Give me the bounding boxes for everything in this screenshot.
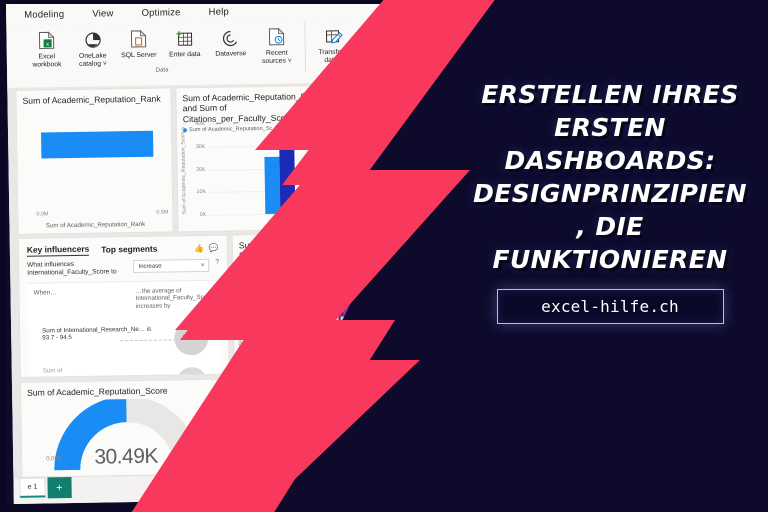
text-box-button[interactable]: A Text box bbox=[460, 22, 476, 54]
question-text: What influences International_Faculty_Sc… bbox=[27, 260, 128, 278]
help-icon[interactable]: ? bbox=[215, 259, 219, 266]
ribbon-group-queries-label: Queries bbox=[346, 65, 367, 71]
tab-optimize[interactable]: Optimize bbox=[141, 7, 180, 19]
transform-data-button[interactable]: Transform data ˅ bbox=[311, 25, 356, 65]
promo-line-4: DESIGNPRINZIPIEN bbox=[455, 177, 765, 210]
add-page-button[interactable]: + bbox=[47, 477, 71, 498]
x-tick-0: 0.0M bbox=[36, 211, 48, 217]
legend-swatch bbox=[239, 264, 243, 268]
dataverse-label: Dataverse bbox=[215, 50, 246, 58]
new-visual-label: New visual bbox=[420, 47, 453, 55]
bar-orange[interactable] bbox=[246, 435, 469, 443]
tile-employment-area-chart[interactable]: Sum of Employment_Outcomes_S… Faculty_St… bbox=[232, 231, 476, 375]
direction-dropdown[interactable]: Increase ˅ bbox=[133, 259, 209, 273]
promo-line-1: ERSTELLEN IHRES bbox=[455, 78, 765, 111]
y-tick: 10K bbox=[180, 189, 206, 195]
tab-view[interactable]: View bbox=[92, 8, 113, 19]
gauge[interactable]: 30.49K 0.00K 60.98K bbox=[21, 398, 230, 477]
refresh-label: Refresh bbox=[368, 48, 392, 56]
promo-headline: ERSTELLEN IHRES ERSTEN DASHBOARDS: DESIG… bbox=[455, 78, 765, 276]
tab-modeling[interactable]: Modeling bbox=[24, 9, 64, 21]
transform-icon bbox=[324, 25, 343, 47]
tile-reputation-bars[interactable]: Sum of Academic_Reputation_R… Academic_R… bbox=[234, 375, 476, 475]
influencer-row2-text: Sum of bbox=[43, 367, 63, 374]
refresh-button[interactable]: Refresh bbox=[357, 24, 401, 56]
y-tick: 0K bbox=[180, 212, 206, 218]
y-tick: 20K bbox=[180, 166, 206, 172]
x-axis-label: Sum of Academic_Reputation_Rank bbox=[18, 220, 172, 229]
screenshot-root: Modeling View Optimize Help x Excel work… bbox=[0, 0, 768, 512]
url-badge: excel-hilfe.ch bbox=[497, 289, 724, 324]
gauge-min: 0.00K bbox=[46, 456, 62, 462]
excel-icon: x bbox=[38, 29, 54, 51]
x-tick-1: 0.5M bbox=[156, 209, 168, 215]
recent-sources-label: Recent sources ˅ bbox=[255, 49, 299, 65]
excel-workbook-button[interactable]: x Excel workbook bbox=[24, 29, 69, 69]
gauge-max: 60.98K bbox=[197, 454, 216, 460]
legend-label: Sum of Empl… bbox=[245, 262, 283, 269]
sql-server-button[interactable]: SQL Server bbox=[116, 28, 160, 60]
key-influencers-question-row: What influences International_Faculty_Sc… bbox=[19, 256, 227, 283]
promo-line-3: DASHBOARDS: bbox=[455, 144, 765, 177]
onelake-catalog-label: OneLake catalog ˅ bbox=[71, 52, 115, 68]
stacked-area-series[interactable] bbox=[263, 278, 476, 357]
legend-swatch bbox=[332, 417, 336, 421]
y-tick: 40K bbox=[179, 121, 205, 127]
legend-label: Sum of Facult… bbox=[297, 262, 337, 269]
tile-score-and-citations[interactable]: Sum of Academic_Reputation_Score and Sum… bbox=[175, 85, 347, 233]
tile-gauge-academic-reputation[interactable]: Sum of Academic_Reputation_Score 30.49K … bbox=[20, 379, 231, 478]
plot-area: 100% 50% 0% bbox=[263, 278, 476, 357]
power-bi-window: Modeling View Optimize Help x Excel work… bbox=[6, 4, 476, 504]
report-canvas[interactable]: Sum of Academic_Reputation_Rank 0.0M 0.5… bbox=[7, 81, 476, 478]
influencer-bubble[interactable]: 50.15 bbox=[174, 321, 209, 356]
tab-key-influencers[interactable]: Key influencers bbox=[27, 244, 90, 257]
legend-item bbox=[332, 417, 336, 421]
tile-academic-reputation-rank[interactable]: Sum of Academic_Reputation_Rank 0.0M 0.5… bbox=[15, 87, 173, 234]
tile-key-influencers[interactable]: Key influencers Top segments 👍 💬 What in… bbox=[18, 235, 230, 378]
legend-item: Sum of Facult… bbox=[291, 262, 337, 269]
ribbon-body: x Excel workbook OneLake catalog ˅ bbox=[6, 19, 476, 89]
plot-area: 40K 30K 20K 10K 0K bbox=[209, 122, 340, 215]
ribbon-group-data-label: Data bbox=[156, 68, 169, 74]
promo-overlay: ERSTELLEN IHRES ERSTEN DASHBOARDS: DESIG… bbox=[455, 78, 765, 324]
ribbon-group-queries: Transform data ˅ Refresh Queries bbox=[304, 20, 408, 72]
sql-server-icon bbox=[130, 28, 146, 50]
dataverse-icon bbox=[221, 26, 239, 48]
y-axis-title: Sum of Employment_Ou… bbox=[235, 275, 245, 355]
bar-series[interactable] bbox=[246, 424, 474, 450]
legend-swatch bbox=[345, 262, 349, 266]
ribbon-group-insert-label: Insert bbox=[475, 55, 476, 61]
tile-title: Sum of Academic_Reputation_Rank bbox=[16, 88, 170, 108]
transform-data-label: Transform data ˅ bbox=[312, 49, 356, 65]
legend-swatch bbox=[291, 263, 295, 267]
excel-workbook-label: Excel workbook bbox=[25, 53, 69, 69]
comment-icon[interactable]: 💬 bbox=[209, 243, 219, 252]
svg-text:x: x bbox=[46, 42, 49, 48]
legend-swatch bbox=[242, 419, 246, 423]
tile-title: Sum of Employment_Outcomes_S… Faculty_St… bbox=[233, 232, 476, 264]
refresh-icon bbox=[371, 24, 387, 46]
enter-data-button[interactable]: Enter data bbox=[162, 27, 206, 59]
text-box-label: Text box bbox=[470, 46, 476, 54]
tile-title: Sum of Academic_Reputation_R… Academic_R… bbox=[235, 376, 476, 418]
recent-icon bbox=[268, 26, 284, 48]
x-axis-label: Faculty_Stu… bbox=[235, 362, 476, 372]
table-plus-icon bbox=[175, 27, 193, 49]
direction-value: Increase bbox=[138, 263, 161, 269]
ribbon-group-insert: New visual A Text box More visuals ˅ bbox=[407, 17, 476, 62]
tab-help[interactable]: Help bbox=[209, 6, 230, 17]
bar-dark-blue[interactable] bbox=[246, 427, 292, 432]
key-influencers-body[interactable]: When… …the average of International_Facu… bbox=[27, 279, 220, 377]
dataverse-button[interactable]: Dataverse bbox=[208, 26, 252, 58]
sql-server-label: SQL Server bbox=[121, 52, 156, 60]
y-tick: 100% bbox=[353, 118, 377, 124]
ribbon-group-data: x Excel workbook OneLake catalog ˅ bbox=[18, 21, 305, 76]
y-tick: 50% bbox=[354, 165, 378, 171]
legend-item bbox=[345, 262, 349, 266]
promo-line-2: ERSTEN bbox=[455, 111, 765, 144]
recent-sources-button[interactable]: Recent sources ˅ bbox=[254, 25, 299, 65]
promo-line-6: FUNKTIONIEREN bbox=[455, 243, 765, 276]
bar-series[interactable] bbox=[264, 147, 295, 213]
enter-data-label: Enter data bbox=[169, 51, 200, 59]
chevron-down-icon: ˅ bbox=[201, 262, 205, 268]
bar-academic-reputation-score[interactable] bbox=[264, 157, 280, 214]
bar-mark[interactable] bbox=[41, 131, 153, 159]
y-tick: 0% bbox=[354, 211, 378, 217]
textbox-icon: A bbox=[473, 22, 476, 44]
onelake-icon bbox=[84, 29, 101, 51]
legend-item: Sum of Academic_Reputatio… bbox=[242, 416, 324, 423]
influencer-bubble-2[interactable] bbox=[177, 367, 207, 378]
new-visual-button[interactable]: New visual bbox=[414, 23, 458, 55]
onelake-catalog-button[interactable]: OneLake catalog ˅ bbox=[70, 28, 115, 68]
new-visual-icon bbox=[427, 23, 445, 45]
bar-citations-per-faculty-score[interactable] bbox=[279, 147, 295, 213]
promo-line-5: , DIE bbox=[455, 210, 765, 243]
tab-top-segments[interactable]: Top segments bbox=[101, 244, 157, 255]
legend-item: Sum of Empl… bbox=[239, 262, 283, 269]
y-tick: 30K bbox=[179, 144, 205, 150]
average-label: …the average of International_Faculty_Sc… bbox=[135, 286, 220, 310]
thumbs-up-icon[interactable]: 👍 bbox=[194, 243, 204, 252]
legend-label: Sum of Academic_Reputatio… bbox=[248, 416, 324, 423]
page-tab[interactable]: e 1 bbox=[19, 477, 45, 497]
url-text: excel-hilfe.ch bbox=[541, 297, 679, 316]
